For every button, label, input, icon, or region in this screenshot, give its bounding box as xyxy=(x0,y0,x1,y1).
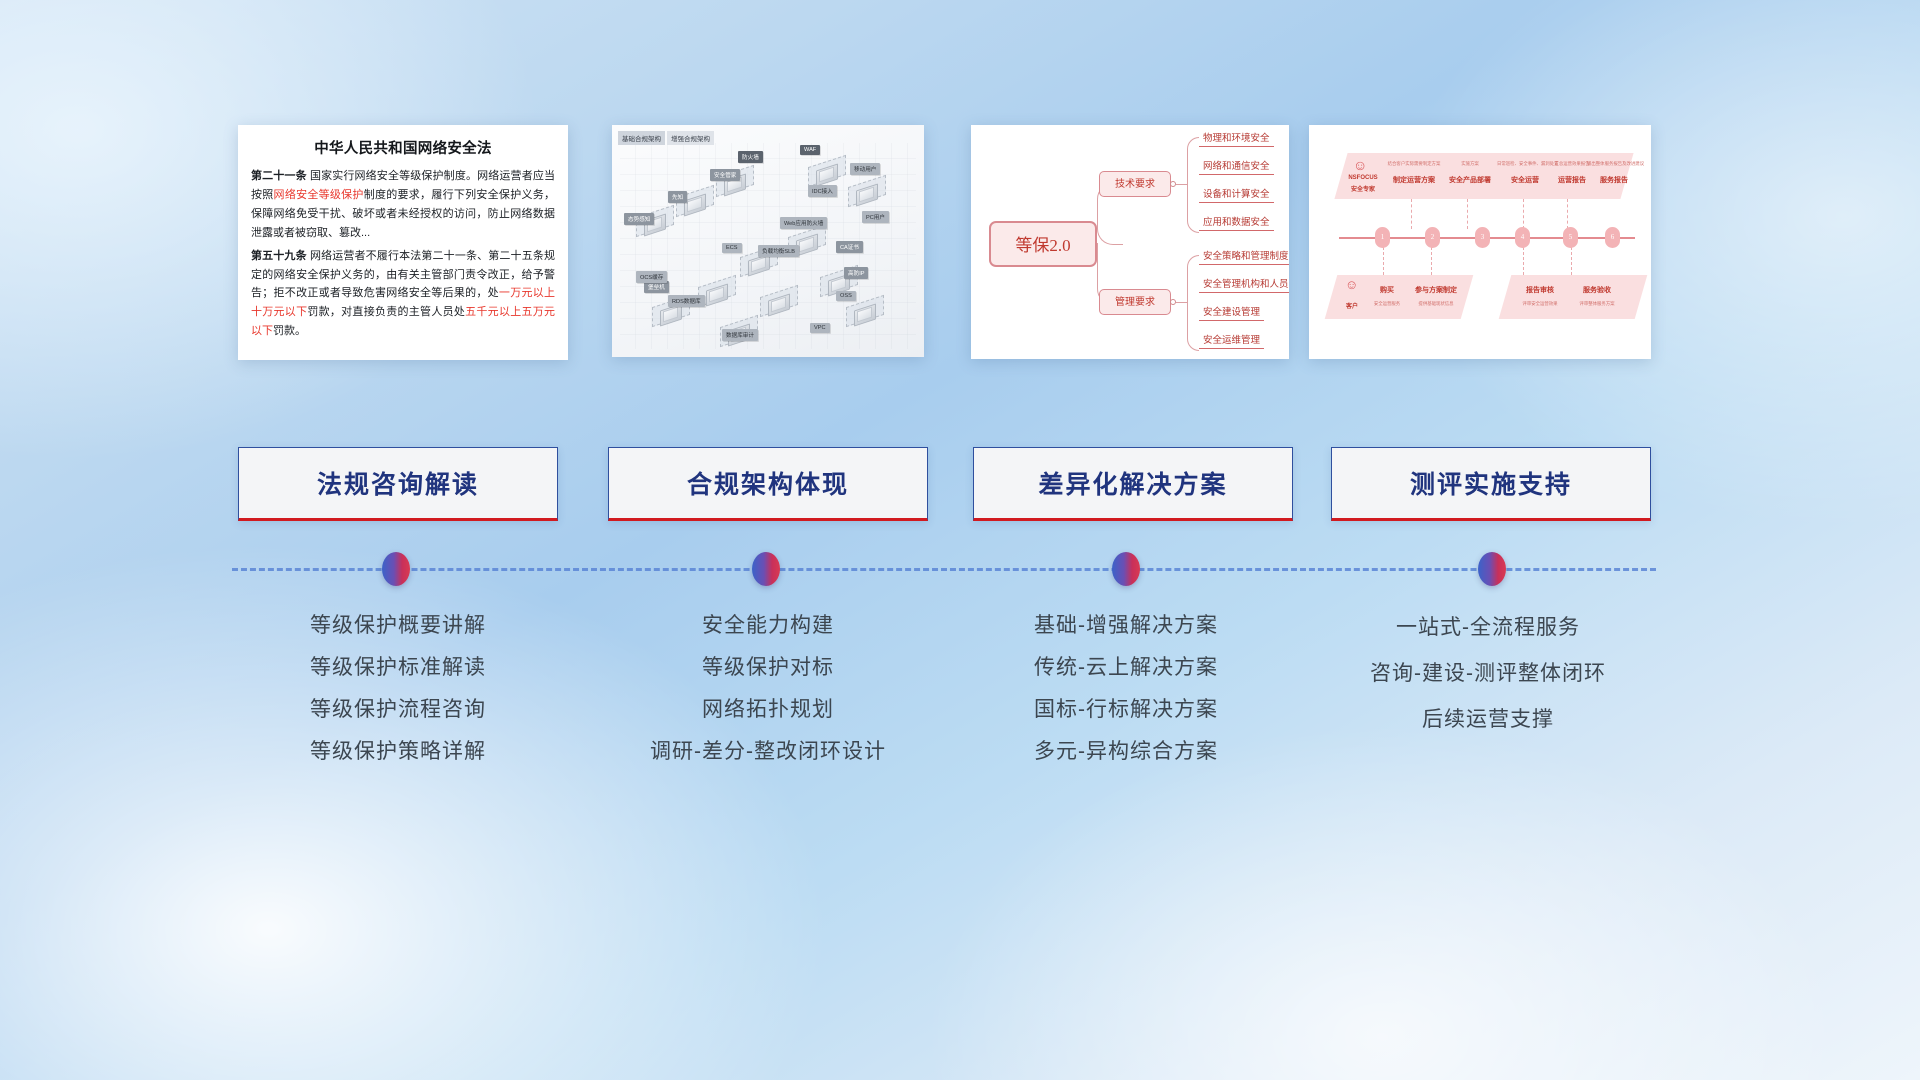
mindmap-branch-technical: 技术要求 xyxy=(1099,171,1171,197)
server-icon xyxy=(748,257,770,273)
header-title-3: 差异化解决方案 xyxy=(1038,465,1227,501)
node-waf: WAF xyxy=(800,145,820,155)
flow-top-step-5: 服务报告 xyxy=(1587,175,1641,185)
flow-bottom-sub-1: 安全运营服务 xyxy=(1367,301,1407,307)
server-icon xyxy=(684,197,706,213)
law-body: 中华人民共和国网络安全法 第二十一条 国家实行网络安全等级保护制度。网络运营者应… xyxy=(238,125,568,353)
flow-link xyxy=(1383,247,1384,275)
list-item: 等级保护流程咨询 xyxy=(233,689,563,731)
mindmap-leaf-app-data: 应用和数据安全 xyxy=(1199,214,1274,231)
expert-avatar-icon: ☺ xyxy=(1353,157,1367,173)
bullet-column-3: 基础-增强解决方案 传统-云上解决方案 国标-行标解决方案 多元-异构综合方案 xyxy=(961,605,1291,773)
flow-top-sub-3: 日常巡检、安全事件、漏洞处置 xyxy=(1497,161,1553,167)
flow-link xyxy=(1523,247,1524,275)
flow-marker-1: 1 xyxy=(1375,227,1390,248)
server-icon xyxy=(854,307,876,323)
bullet-column-4: 一站式-全流程服务 咨询-建设-测评整体闭环 后续运营支撑 xyxy=(1323,605,1653,743)
flow-top-step-2: 安全产品部署 xyxy=(1443,175,1497,185)
node-mobile-user: 移动用户 xyxy=(850,163,880,175)
node-foresight: 先知 xyxy=(668,191,687,203)
flow-top-sub-1: 结合客户实际需要制定方案 xyxy=(1387,161,1441,167)
card-architecture-diagram: 基础合规架构 增强合规架构 xyxy=(612,125,924,357)
law-title: 中华人民共和国网络安全法 xyxy=(251,137,555,158)
flow-canvas: ☺ NSFOCUS 安全专家 结合客户实际需要制定方案 制定运营方案 实施方案 … xyxy=(1309,125,1651,359)
bullet-column-2: 安全能力构建 等级保护对标 网络拓扑规划 调研-差分-整改闭环设计 xyxy=(603,605,933,773)
mindmap-leaf-policy-system: 安全策略和管理制度 xyxy=(1199,248,1289,265)
tab-enhanced-architecture[interactable]: 增强合规架构 xyxy=(667,131,714,145)
header-assessment-support[interactable]: 测评实施支持 xyxy=(1331,447,1651,521)
mindmap-leaf-physical-env: 物理和环境安全 xyxy=(1199,130,1274,147)
flow-link xyxy=(1431,247,1432,275)
mindmap-branch-management: 管理要求 xyxy=(1099,289,1171,315)
list-item: 咨询-建设-测评整体闭环 xyxy=(1323,651,1653,697)
flow-marker-5: 5 xyxy=(1563,227,1578,248)
server-icon xyxy=(856,187,878,203)
card-mindmap: 等保2.0 技术要求 物理和环境安全 网络和通信安全 设备和计算安全 应用和数据… xyxy=(971,125,1289,359)
flow-link xyxy=(1571,247,1572,275)
flow-link xyxy=(1523,199,1524,229)
header-title-1: 法规咨询解读 xyxy=(317,465,479,501)
flow-link xyxy=(1567,199,1568,229)
flow-link xyxy=(1411,199,1412,229)
node-security-butler: 安全管家 xyxy=(710,169,740,181)
card-service-flow: ☺ NSFOCUS 安全专家 结合客户实际需要制定方案 制定运营方案 实施方案 … xyxy=(1309,125,1651,359)
node-idc-access: IDC接入 xyxy=(808,185,837,197)
server-icon xyxy=(816,167,838,183)
node-ecs: ECS xyxy=(722,243,742,253)
mindmap-root-node: 等保2.0 xyxy=(989,221,1097,267)
law-article-59: 第五十九条 网络运营者不履行本法第二十一条、第二十五条规定的网络安全保护义务的，… xyxy=(251,247,555,342)
node-situational-awareness: 态势感知 xyxy=(624,213,654,225)
flow-link xyxy=(1467,199,1468,229)
flow-marker-2: 2 xyxy=(1425,227,1440,248)
flow-bottom-sub-4: 评审整体服务方案 xyxy=(1569,301,1625,307)
card-law-text: 中华人民共和国网络安全法 第二十一条 国家实行网络安全等级保护制度。网络运营者应… xyxy=(238,125,568,360)
header-differentiated-solution[interactable]: 差异化解决方案 xyxy=(973,447,1293,521)
list-item: 等级保护对标 xyxy=(603,647,933,689)
flow-actor-expert-line2: 安全专家 xyxy=(1339,184,1387,193)
list-item: 后续运营支撑 xyxy=(1323,697,1653,743)
flow-bottom-sub-3: 评审安全运营效果 xyxy=(1515,301,1565,307)
server-icon xyxy=(660,307,682,323)
flow-bottom-step-1: 购买 xyxy=(1367,285,1407,295)
list-item: 多元-异构综合方案 xyxy=(961,731,1291,773)
node-slb: 负载均衡SLB xyxy=(758,245,799,257)
list-item: 基础-增强解决方案 xyxy=(961,605,1291,647)
article-21-label: 第二十一条 xyxy=(251,170,307,182)
mindmap-leaf-device-compute: 设备和计算安全 xyxy=(1199,186,1274,203)
customer-avatar-icon: ☺ xyxy=(1345,277,1358,292)
article-21-highlight: 网络安全等级保护 xyxy=(274,189,364,201)
node-ca-certificate: CA证书 xyxy=(836,241,863,253)
mindmap-leaf-org-personnel: 安全管理机构和人员 xyxy=(1199,276,1289,293)
server-icon xyxy=(796,237,818,253)
timeline-node-4[interactable] xyxy=(1478,552,1506,586)
list-item: 传统-云上解决方案 xyxy=(961,647,1291,689)
article-59-part2: 罚款，对直接负责的主管人员处 xyxy=(307,306,465,318)
list-item: 一站式-全流程服务 xyxy=(1323,605,1653,651)
server-icon xyxy=(706,287,728,303)
article-59-part3: 罚款。 xyxy=(273,325,306,337)
flow-top-step-1: 制定运营方案 xyxy=(1387,175,1441,185)
architecture-canvas: 基础合规架构 增强合规架构 xyxy=(612,125,924,357)
flow-bottom-step-2: 参与方案制定 xyxy=(1407,285,1465,295)
header-legal-consulting[interactable]: 法规咨询解读 xyxy=(238,447,558,521)
node-db-audit: 数据库审计 xyxy=(722,329,758,341)
mindmap-leaf-construction: 安全建设管理 xyxy=(1199,304,1264,321)
node-ocs-cache: OCS缓存 xyxy=(636,271,667,283)
flow-bottom-step-3: 报告审核 xyxy=(1515,285,1565,295)
flow-bottom-band-right xyxy=(1499,275,1648,319)
architecture-tabs: 基础合规架构 增强合规架构 xyxy=(618,131,714,145)
mindmap-leaf-operation: 安全运维管理 xyxy=(1199,332,1264,349)
list-item: 等级保护概要讲解 xyxy=(233,605,563,647)
node-firewall: 防火墙 xyxy=(738,151,763,163)
flow-marker-3: 3 xyxy=(1475,227,1490,248)
node-oss: OSS xyxy=(836,291,856,301)
timeline-node-2[interactable] xyxy=(752,552,780,586)
flow-actor-expert-line1: NSFOCUS xyxy=(1339,175,1387,181)
flow-actor-customer: 客户 xyxy=(1337,301,1367,310)
mindmap-canvas: 等保2.0 技术要求 物理和环境安全 网络和通信安全 设备和计算安全 应用和数据… xyxy=(971,125,1289,359)
mindmap-leaf-network-comm: 网络和通信安全 xyxy=(1199,158,1274,175)
list-item: 调研-差分-整改闭环设计 xyxy=(603,731,933,773)
flow-marker-6: 6 xyxy=(1605,227,1620,248)
server-icon xyxy=(768,297,790,313)
header-compliance-architecture[interactable]: 合规架构体现 xyxy=(608,447,928,521)
list-item: 安全能力构建 xyxy=(603,605,933,647)
header-title-4: 测评实施支持 xyxy=(1410,465,1572,501)
node-web-app-firewall: Web应用防火墙 xyxy=(780,217,827,229)
flow-marker-4: 4 xyxy=(1515,227,1530,248)
tab-basic-architecture[interactable]: 基础合规架构 xyxy=(618,131,665,145)
mindmap-connector xyxy=(1187,255,1199,351)
node-rds: RDS数据库 xyxy=(668,295,705,307)
header-title-2: 合规架构体现 xyxy=(687,465,849,501)
flow-top-sub-2: 实施方案 xyxy=(1443,161,1497,167)
mindmap-connector xyxy=(1187,137,1199,233)
flow-bottom-step-4: 服务验收 xyxy=(1569,285,1625,295)
slide-canvas: 中华人民共和国网络安全法 第二十一条 国家实行网络安全等级保护制度。网络运营者应… xyxy=(176,0,1744,882)
law-article-21: 第二十一条 国家实行网络安全等级保护制度。网络运营者应当按照网络安全等级保护制度… xyxy=(251,167,555,243)
timeline-node-3[interactable] xyxy=(1112,552,1140,586)
timeline-rail xyxy=(232,568,1656,571)
timeline-node-1[interactable] xyxy=(382,552,410,586)
flow-bottom-sub-2: 提供基础现状信息 xyxy=(1407,301,1465,307)
node-anti-ddos-ip: 高防IP xyxy=(844,267,868,279)
bullet-column-1: 等级保护概要讲解 等级保护标准解读 等级保护流程咨询 等级保护策略详解 xyxy=(233,605,563,773)
article-59-label: 第五十九条 xyxy=(251,250,307,262)
list-item: 国标-行标解决方案 xyxy=(961,689,1291,731)
flow-top-step-3: 安全运营 xyxy=(1497,175,1553,185)
list-item: 等级保护标准解读 xyxy=(233,647,563,689)
flow-top-sub-5: 输出整体服务报告及改进建议 xyxy=(1587,161,1641,167)
node-vpc: VPC xyxy=(810,323,830,333)
node-pc-user: PC用户 xyxy=(862,211,889,223)
list-item: 等级保护策略详解 xyxy=(233,731,563,773)
list-item: 网络拓扑规划 xyxy=(603,689,933,731)
